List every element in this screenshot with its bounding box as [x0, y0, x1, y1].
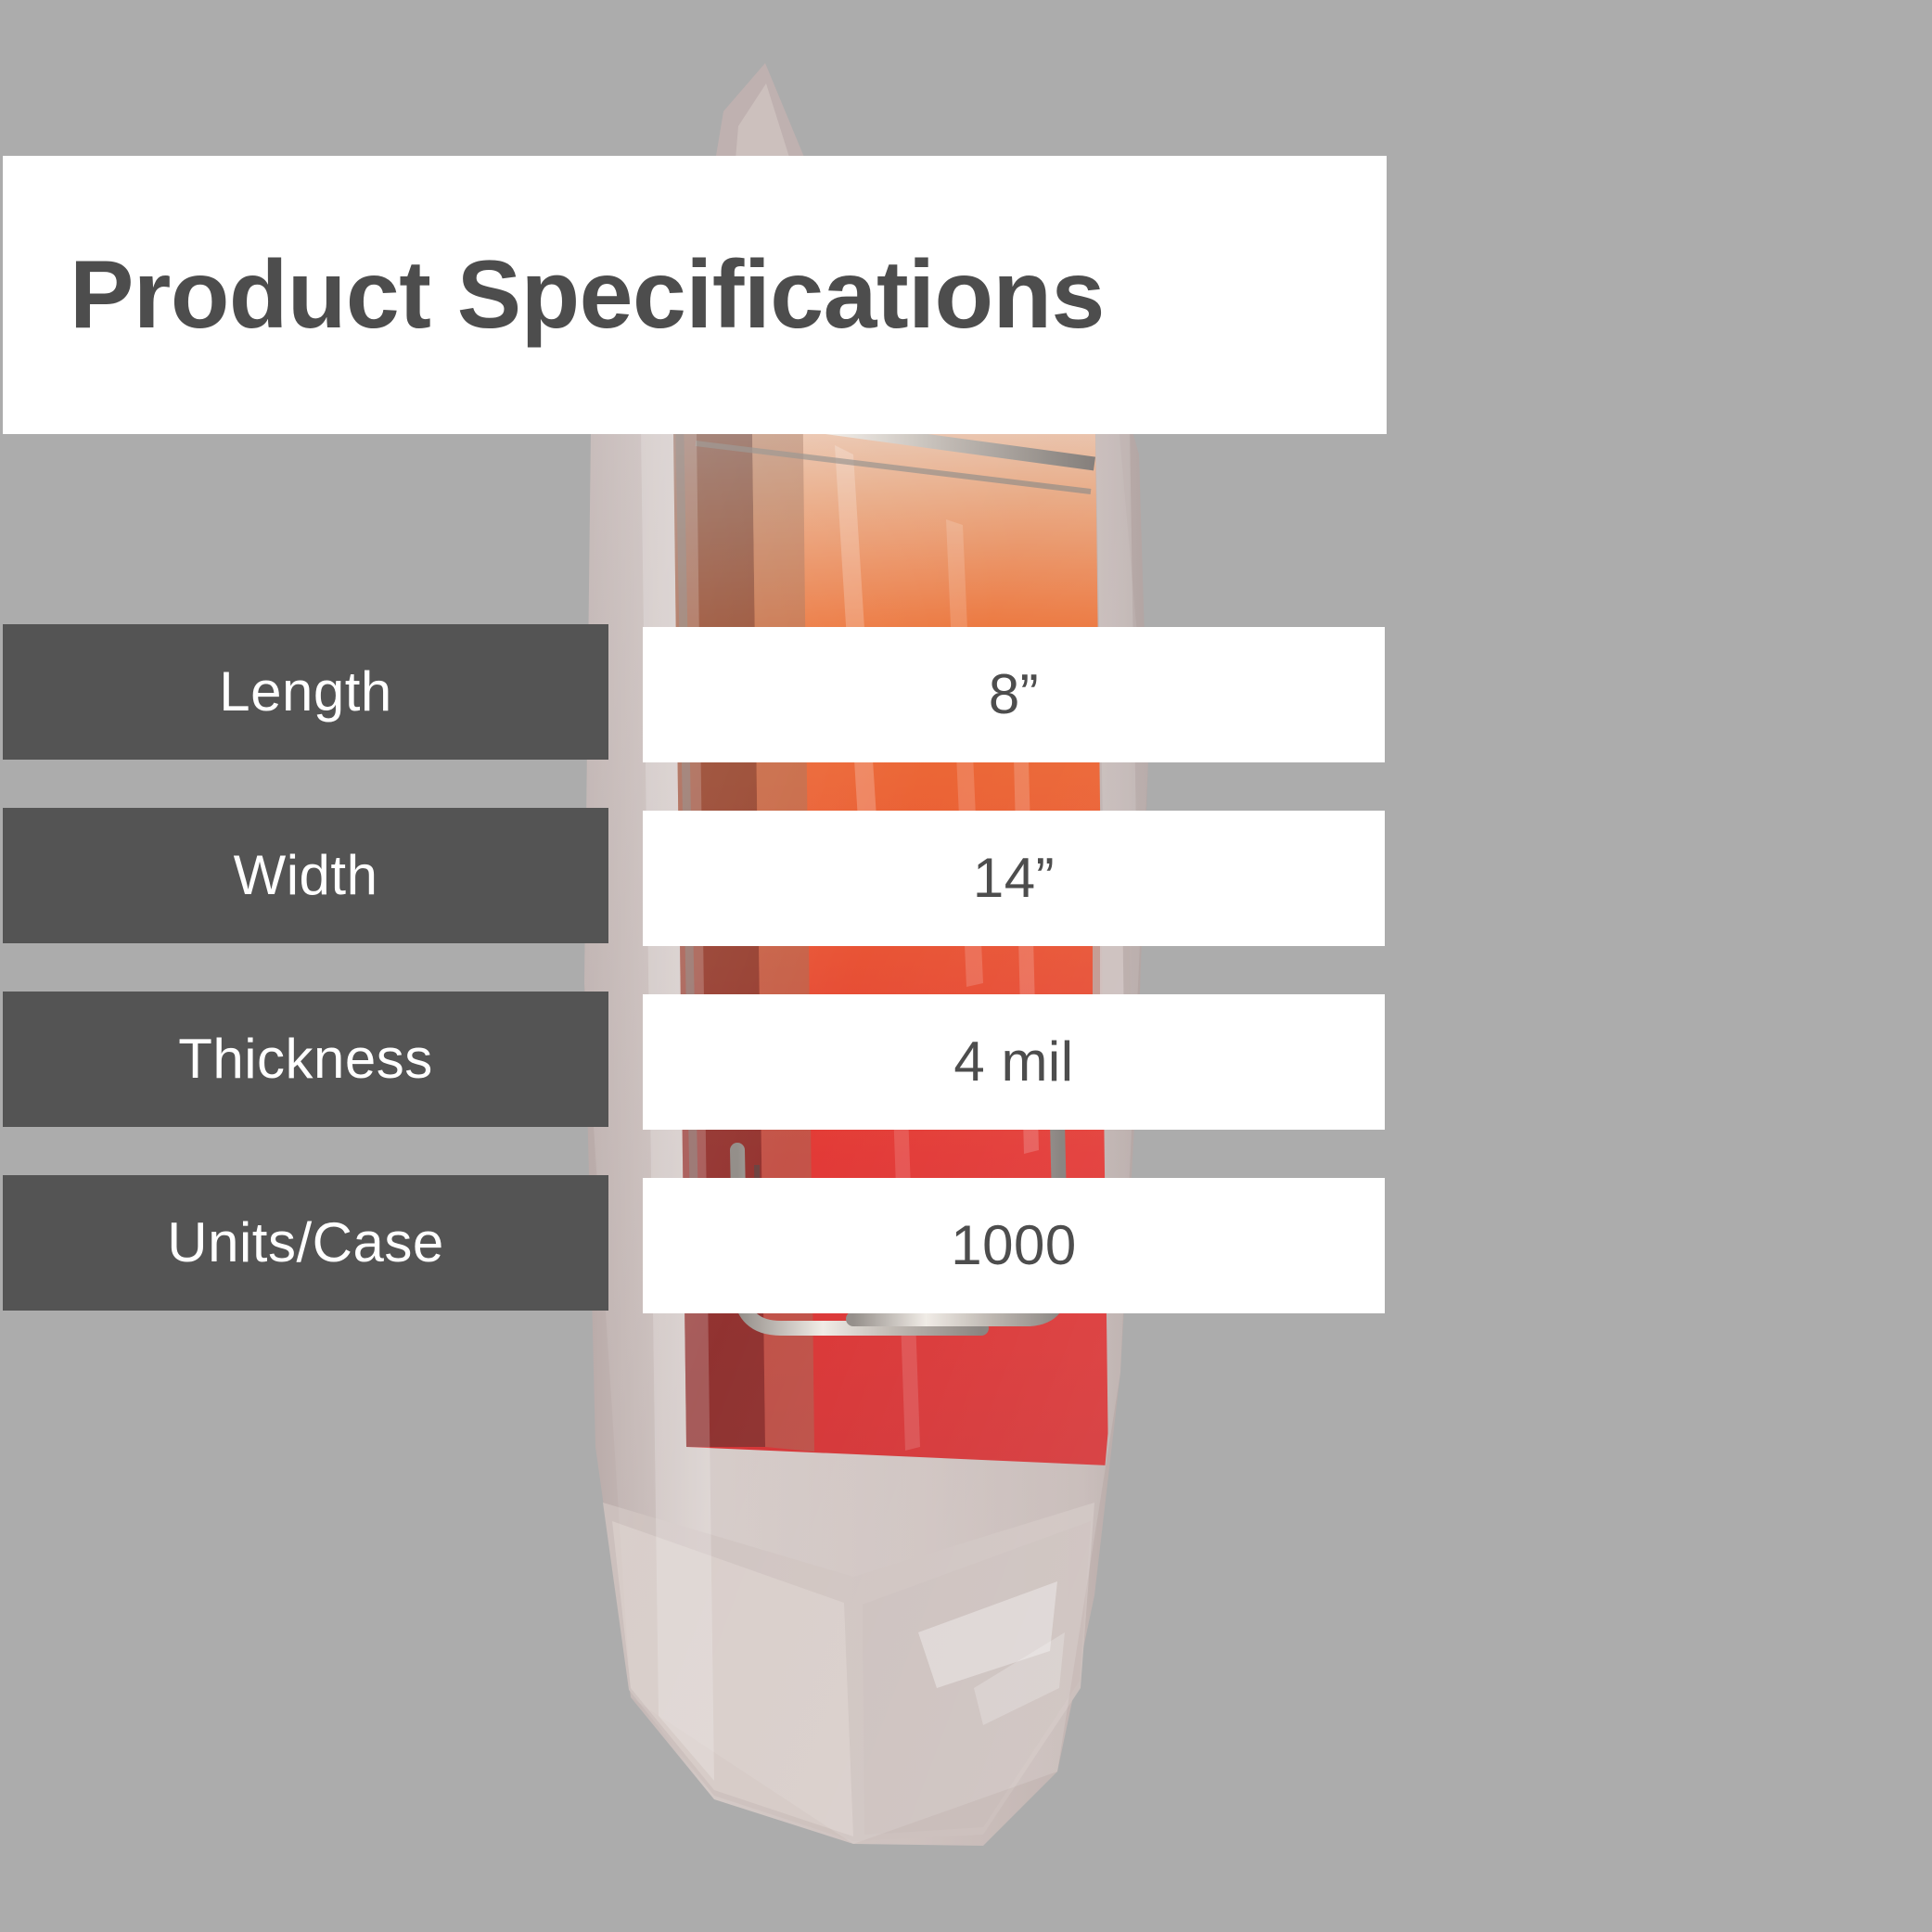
spec-label-cell: Width — [3, 808, 608, 943]
spec-value-text: 4 mil — [953, 1034, 1073, 1090]
spec-row-thickness: Thickness 4 mil — [0, 992, 1391, 1127]
spec-label-cell: Length — [3, 624, 608, 760]
spec-value-cell: 8” — [643, 627, 1385, 762]
page-title: Product Specifications — [70, 247, 1105, 343]
spec-value-text: 8” — [989, 667, 1039, 723]
spec-label-cell: Units/Case — [3, 1175, 608, 1311]
spec-value-text: 14” — [973, 851, 1055, 906]
spec-value-cell: 1000 — [643, 1178, 1385, 1313]
spec-row-units-per-case: Units/Case 1000 — [0, 1175, 1391, 1311]
spec-value-cell: 4 mil — [643, 994, 1385, 1130]
title-banner: Product Specifications — [3, 156, 1387, 434]
spec-label-text: Width — [234, 848, 378, 903]
spec-label-text: Length — [219, 664, 392, 720]
product-spec-graphic: Product Specifications Length 8” Width 1… — [0, 0, 1932, 1932]
spec-row-length: Length 8” — [0, 624, 1391, 760]
spec-label-cell: Thickness — [3, 992, 608, 1127]
spec-value-text: 1000 — [951, 1218, 1076, 1273]
spec-row-width: Width 14” — [0, 808, 1391, 943]
spec-label-text: Thickness — [178, 1031, 433, 1087]
spec-table: Length 8” Width 14” Thickness 4 mil — [0, 624, 1391, 1359]
spec-value-cell: 14” — [643, 811, 1385, 946]
spec-label-text: Units/Case — [167, 1215, 443, 1271]
